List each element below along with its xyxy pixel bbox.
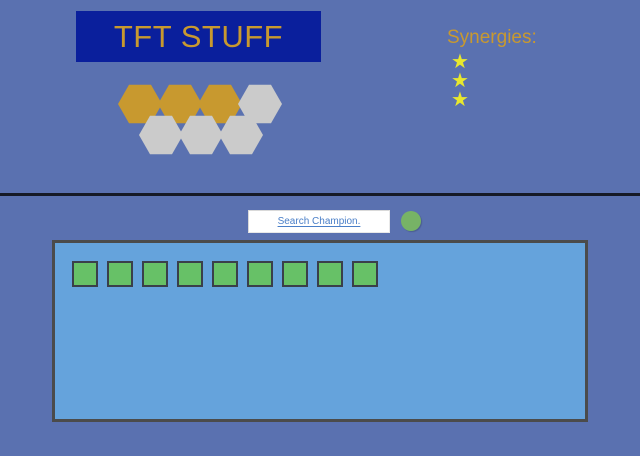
synergies-label: Synergies: xyxy=(447,28,597,47)
search-input-value[interactable]: Search Champion. xyxy=(278,216,361,227)
champion-slot[interactable] xyxy=(107,261,133,287)
star-icon: ★ xyxy=(451,72,597,91)
synergies-list: ★ ★ ★ xyxy=(451,53,597,110)
champion-slot[interactable] xyxy=(352,261,378,287)
champion-slot[interactable] xyxy=(72,261,98,287)
bottom-section: Search Champion. xyxy=(0,196,640,456)
champion-slot[interactable] xyxy=(317,261,343,287)
status-circle-icon[interactable] xyxy=(401,211,421,231)
search-input[interactable]: Search Champion. xyxy=(248,210,390,233)
champion-slot[interactable] xyxy=(212,261,238,287)
top-section: TFT STUFF Synergies: ★ ★ ★ xyxy=(0,0,640,194)
title-banner: TFT STUFF xyxy=(76,11,321,62)
app-root: TFT STUFF Synergies: ★ ★ ★ xyxy=(0,0,640,456)
search-row: Search Champion. xyxy=(248,210,428,236)
champion-slot[interactable] xyxy=(177,261,203,287)
hex-board xyxy=(118,84,283,160)
star-icon: ★ xyxy=(451,91,597,110)
champion-panel xyxy=(52,240,588,422)
star-icon: ★ xyxy=(451,53,597,72)
synergies-panel: Synergies: ★ ★ ★ xyxy=(447,28,597,110)
champion-slot[interactable] xyxy=(282,261,308,287)
page-title: TFT STUFF xyxy=(114,21,283,52)
champion-slot[interactable] xyxy=(247,261,273,287)
champion-slot[interactable] xyxy=(142,261,168,287)
champion-slot-row xyxy=(72,261,378,287)
